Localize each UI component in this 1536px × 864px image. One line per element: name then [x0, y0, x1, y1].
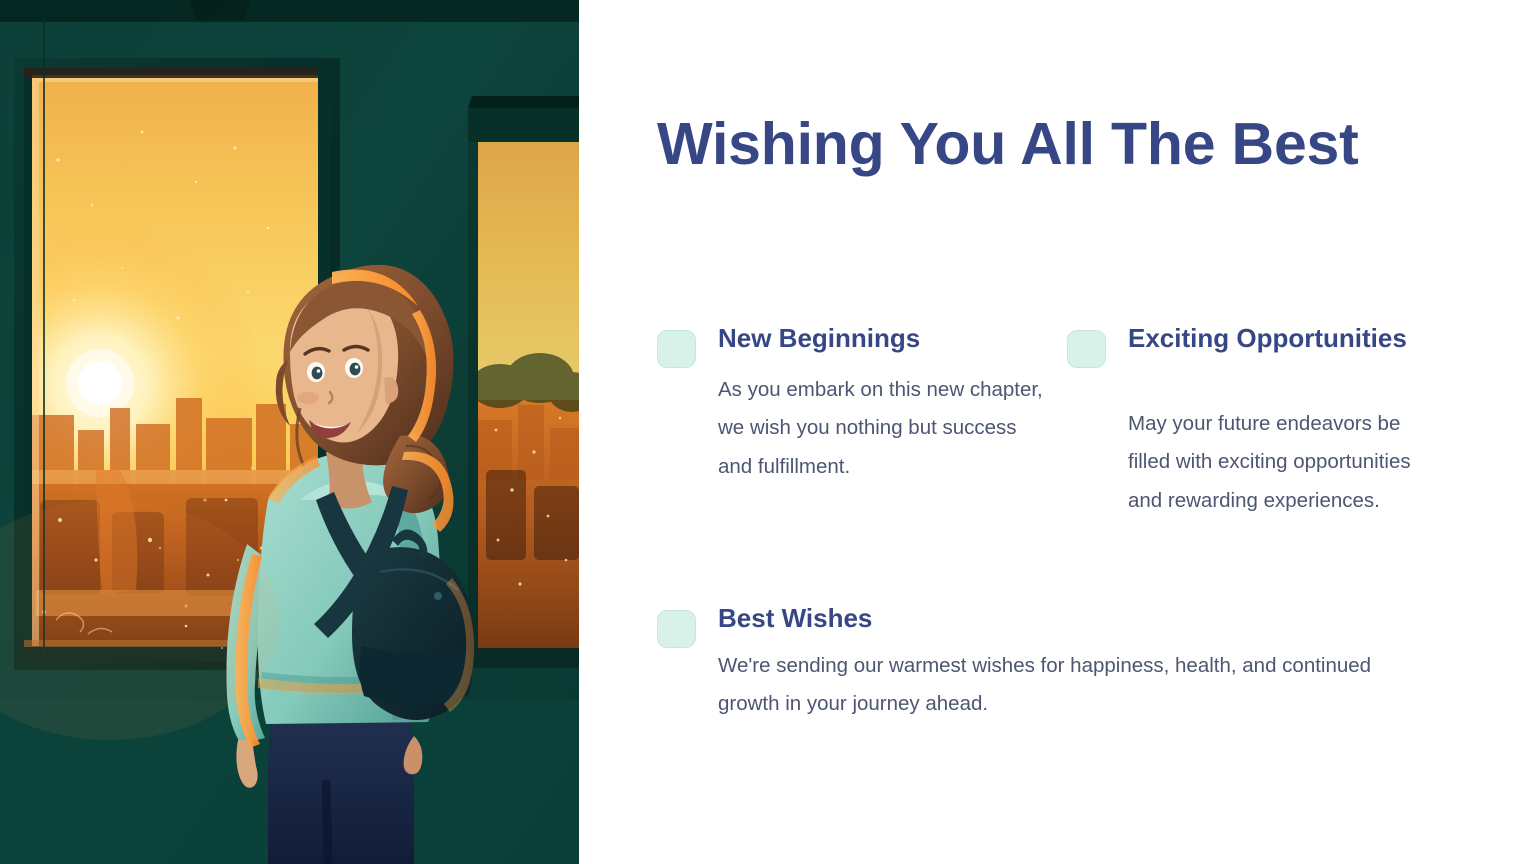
card-title-new-beginnings: New Beginnings: [718, 322, 1067, 355]
mint-rounded-square-icon: [657, 330, 696, 368]
page-title: Wishing You All The Best: [657, 112, 1359, 177]
card-new-beginnings: New Beginnings As you embark on this new…: [657, 322, 1067, 520]
card-title-exciting-opportunities: Exciting Opportunities: [1128, 322, 1467, 355]
card-text-best-wishes: We're sending our warmest wishes for hap…: [718, 647, 1418, 724]
mint-rounded-square-icon: [1067, 330, 1106, 368]
card-text-exciting-opportunities: May your future endeavors be filled with…: [1128, 405, 1448, 521]
card-body: Exciting Opportunities May your future e…: [1128, 322, 1467, 520]
card-exciting-opportunities: Exciting Opportunities May your future e…: [1067, 322, 1467, 520]
card-body: New Beginnings As you embark on this new…: [718, 322, 1067, 486]
cards-row-2: Best Wishes We're sending our warmest wi…: [657, 602, 1467, 724]
illustration-panel: [0, 0, 579, 864]
card-title-best-wishes: Best Wishes: [718, 602, 1467, 635]
card-best-wishes: Best Wishes We're sending our warmest wi…: [657, 602, 1467, 724]
cards-row-1: New Beginnings As you embark on this new…: [657, 322, 1467, 520]
cards-area: New Beginnings As you embark on this new…: [657, 322, 1467, 724]
sunset-window-scene: [0, 0, 579, 864]
card-text-new-beginnings: As you embark on this new chapter, we wi…: [718, 371, 1048, 487]
slide-root: Wishing You All The Best New Beginnings …: [0, 0, 1536, 864]
content-panel: Wishing You All The Best New Beginnings …: [579, 0, 1536, 864]
card-body: Best Wishes We're sending our warmest wi…: [718, 602, 1467, 724]
mint-rounded-square-icon: [657, 610, 696, 648]
